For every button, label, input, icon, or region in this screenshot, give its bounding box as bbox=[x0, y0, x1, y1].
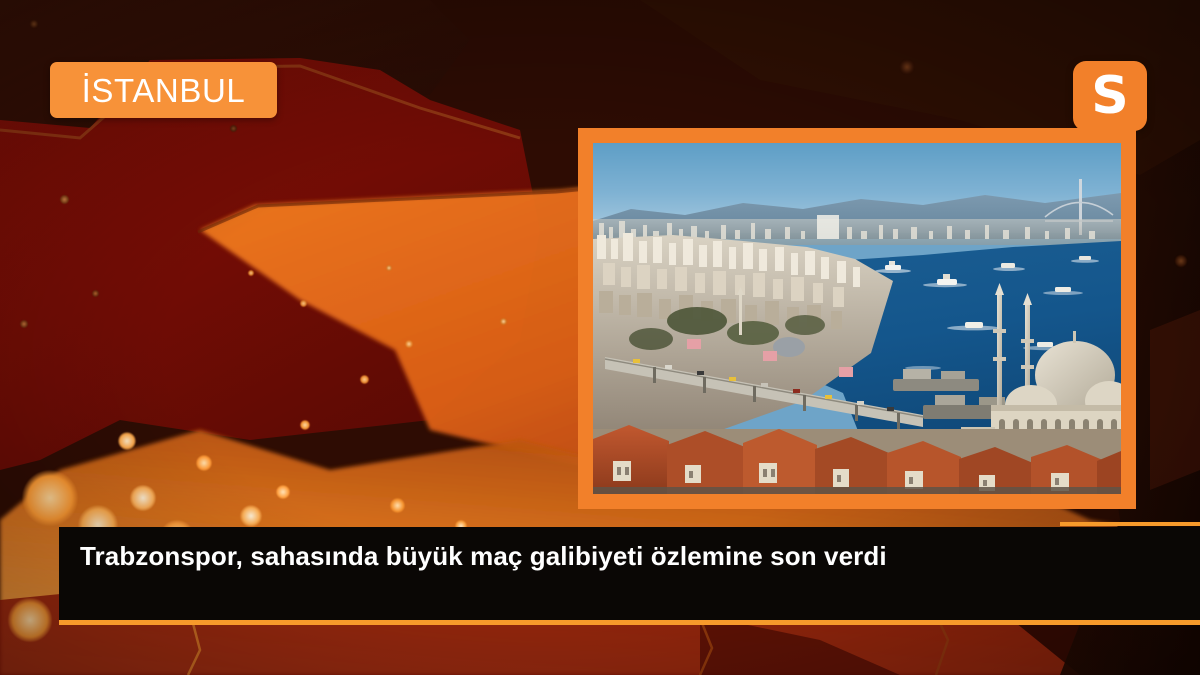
city-badge: İSTANBUL bbox=[50, 62, 277, 118]
caption-bar: Trabzonspor, sahasında büyük maç galibiy… bbox=[59, 527, 1200, 625]
brand-s-logo[interactable]: S bbox=[1073, 61, 1147, 131]
istanbul-cityscape-illustration bbox=[593, 143, 1121, 494]
brand-logo-letter: S bbox=[1091, 70, 1128, 122]
headline-text: Trabzonspor, sahasında büyük maç galibiy… bbox=[80, 539, 1180, 574]
photo-frame bbox=[578, 128, 1136, 509]
caption-accent-line bbox=[1060, 522, 1200, 526]
news-card: İSTANBUL S bbox=[0, 0, 1200, 675]
istanbul-photo bbox=[593, 143, 1121, 494]
foreground-rooftops bbox=[593, 425, 1121, 494]
city-badge-label: İSTANBUL bbox=[82, 74, 246, 107]
